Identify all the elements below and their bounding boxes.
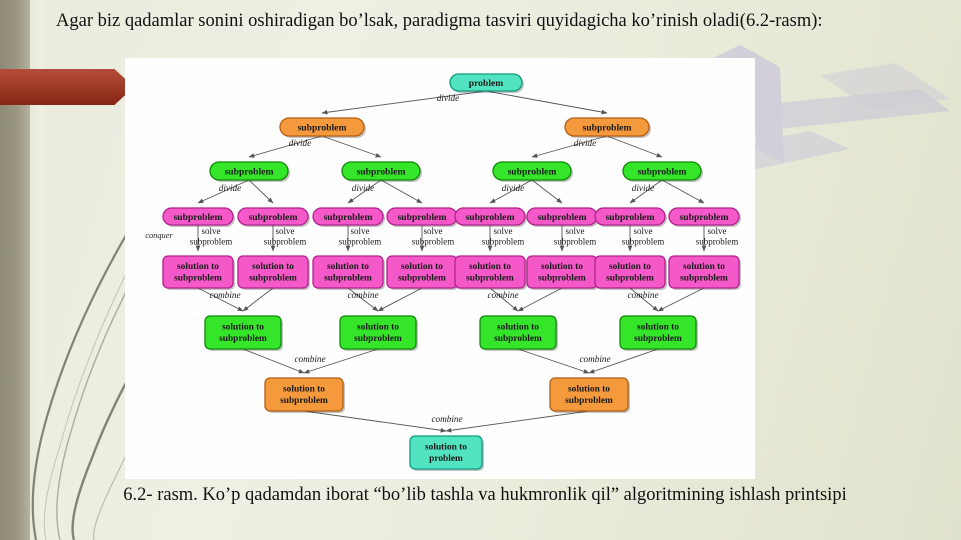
node-solution-subproblem-pink-1: solution tosubproblem [238,256,310,290]
edge-label: divide [219,183,241,193]
diagram-nodes: problemsubproblemsubproblemsubproblemsub… [163,74,741,471]
node-label: solution to [222,323,264,333]
node-subproblem-l2-0: subproblem [210,162,290,182]
node-solution-problem-final: solution toproblem [410,436,484,471]
node-subproblem-l3-6: subproblem [595,208,667,227]
node-label: solution to [252,262,294,272]
node-label: subproblem [466,212,515,223]
figure-caption: 6.2- rasm. Ko’p qadamdan iborat “bo’lib … [40,482,930,508]
node-solution-subproblem-green-0: solution tosubproblem [205,316,283,351]
node-label: subproblem [508,167,557,178]
node-label: subproblem [357,167,406,178]
node-label: solution to [609,262,651,272]
node-label: subproblem [634,334,682,344]
node-label: subproblem [225,167,274,178]
node-subproblem-l3-0: subproblem [163,208,235,227]
edge-label: divide [352,183,374,193]
node-problem-root: problem [450,74,524,93]
node-solution-subproblem-pink-6: solution tosubproblem [595,256,667,290]
edge-label: conquer [145,231,173,240]
diagram-edge [486,91,607,113]
edge-label: solve [424,226,443,236]
node-subproblem-l1-0: subproblem [280,118,366,138]
edge-label: subproblem [190,237,233,247]
node-label: solution to [425,443,467,453]
node-label: solution to [177,262,219,272]
figure-panel: dividedividedividedividedividedividedivi… [125,58,755,479]
node-label: subproblem [324,273,372,283]
node-label: problem [429,454,463,464]
edge-label: divide [632,183,654,193]
node-label: solution to [568,385,610,395]
node-label: subproblem [398,212,447,223]
edge-label: combine [431,414,462,424]
node-label: subproblem [538,273,586,283]
slide-canvas: Agar biz qadamlar sonini oshiradigan bo’… [0,0,961,540]
edge-label: combine [487,290,518,300]
edge-label: solve [494,226,513,236]
edge-label: subproblem [339,237,382,247]
node-label: subproblem [494,334,542,344]
node-solution-subproblem-orange-0: solution tosubproblem [265,378,345,413]
edge-label: subproblem [264,237,307,247]
edge-label: combine [209,290,240,300]
diagram-edge [518,288,562,311]
node-label: subproblem [565,396,613,406]
node-solution-subproblem-green-2: solution tosubproblem [480,316,558,351]
node-label: subproblem [298,123,347,134]
diagram-edge [322,91,486,113]
node-solution-subproblem-green-3: solution tosubproblem [620,316,698,351]
node-label: subproblem [538,212,587,223]
slide-heading: Agar biz qadamlar sonini oshiradigan bo’… [22,8,940,36]
node-label: subproblem [638,167,687,178]
node-label: subproblem [606,212,655,223]
node-label: solution to [541,262,583,272]
node-subproblem-l3-1: subproblem [238,208,310,227]
node-solution-subproblem-pink-4: solution tosubproblem [455,256,527,290]
node-label: subproblem [324,212,373,223]
node-subproblem-l2-3: subproblem [623,162,703,182]
node-label: subproblem [280,396,328,406]
node-solution-subproblem-pink-7: solution tosubproblem [669,256,741,290]
diagram-edge [662,180,704,203]
node-subproblem-l3-3: subproblem [387,208,459,227]
diagram-edge [322,136,381,157]
edge-label: divide [289,138,311,148]
diagram-edge [243,288,273,311]
diagram-edge [446,411,589,431]
node-label: solution to [357,323,399,333]
node-subproblem-l2-2: subproblem [493,162,573,182]
edge-label: divide [574,138,596,148]
edge-label: combine [347,290,378,300]
node-subproblem-l3-2: subproblem [313,208,385,227]
heading-text: Agar biz qadamlar sonini oshiradigan bo’… [56,11,823,31]
diagram-edge [249,180,273,203]
node-label: solution to [683,262,725,272]
node-subproblem-l3-5: subproblem [527,208,599,227]
edge-label: solve [708,226,727,236]
node-label: subproblem [398,273,446,283]
node-label: subproblem [606,273,654,283]
diagram-edge [518,349,589,373]
node-label: solution to [637,323,679,333]
node-label: subproblem [680,273,728,283]
node-label: solution to [283,385,325,395]
node-solution-subproblem-orange-1: solution tosubproblem [550,378,630,413]
edge-label: solve [276,226,295,236]
edge-label: divide [502,183,524,193]
diagram-edge [532,180,562,203]
node-subproblem-l2-1: subproblem [342,162,422,182]
edge-label: subproblem [412,237,455,247]
diagram-edge [658,288,704,311]
edge-label: combine [627,290,658,300]
node-solution-subproblem-green-1: solution tosubproblem [340,316,418,351]
edge-label: solve [202,226,221,236]
node-subproblem-l1-1: subproblem [565,118,651,138]
node-subproblem-l3-7: subproblem [669,208,741,227]
diagram-edge [381,180,422,203]
edge-label: solve [634,226,653,236]
node-label: subproblem [354,334,402,344]
node-label: subproblem [583,123,632,134]
diagram-edge [304,411,446,431]
node-label: subproblem [249,212,298,223]
node-label: solution to [327,262,369,272]
node-label: subproblem [174,273,222,283]
edge-label: divide [437,93,459,103]
node-solution-subproblem-pink-0: solution tosubproblem [163,256,235,290]
node-label: solution to [469,262,511,272]
edge-label: solve [566,226,585,236]
divide-and-conquer-diagram: dividedividedividedividedividedividedivi… [125,58,755,479]
node-subproblem-l3-4: subproblem [455,208,527,227]
node-solution-subproblem-pink-3: solution tosubproblem [387,256,459,290]
edge-label: combine [294,354,325,364]
node-label: subproblem [219,334,267,344]
diagram-edge [378,288,422,311]
edge-label: subproblem [622,237,665,247]
node-label: problem [469,78,503,89]
edge-label: subproblem [554,237,597,247]
node-solution-subproblem-pink-5: solution tosubproblem [527,256,599,290]
node-label: subproblem [249,273,297,283]
node-solution-subproblem-pink-2: solution tosubproblem [313,256,385,290]
node-label: subproblem [680,212,729,223]
node-label: subproblem [466,273,514,283]
node-label: solution to [401,262,443,272]
edge-label: combine [579,354,610,364]
diagram-edge [607,136,662,157]
edge-label: subproblem [482,237,525,247]
node-label: subproblem [174,212,223,223]
edge-label: solve [351,226,370,236]
node-label: solution to [497,323,539,333]
edge-label: subproblem [696,237,739,247]
